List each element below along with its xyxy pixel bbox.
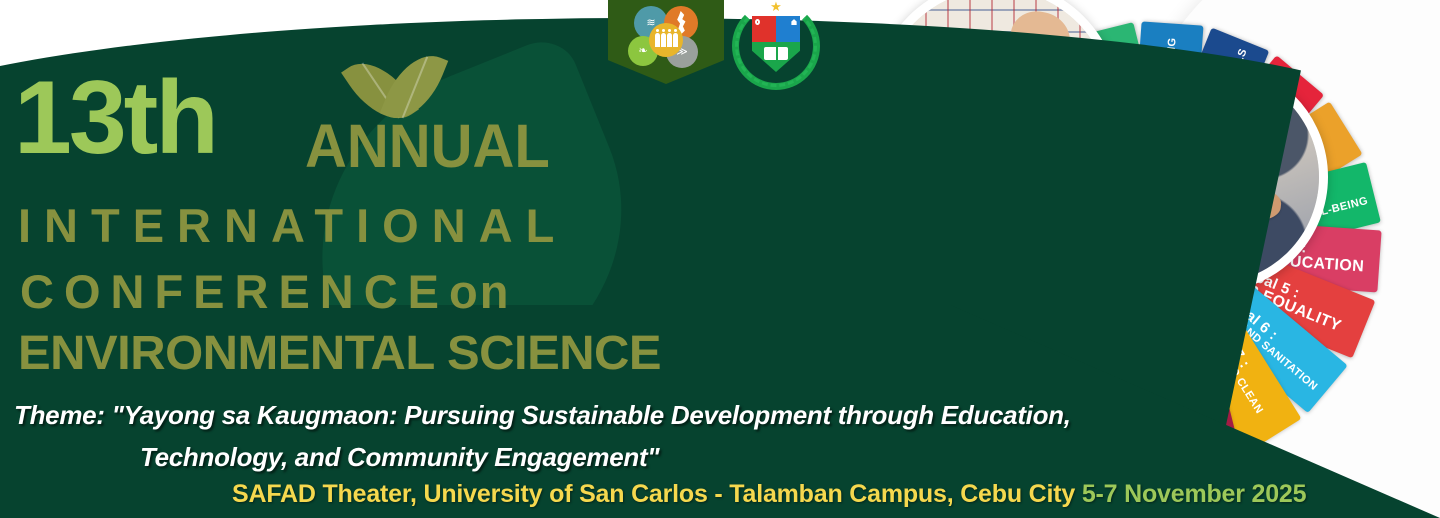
date-text: 5-7 November 2025: [1082, 480, 1307, 508]
theme-text-line-1: Theme: "Yayong sa Kaugmaon: Pursuing Sus…: [14, 402, 1071, 428]
seal-red-quadrant: [752, 16, 776, 42]
people-group-icon: [649, 23, 683, 57]
edition-number: 13th: [14, 72, 216, 166]
annual-label: ANNUAL: [305, 116, 550, 177]
star-icon: ★: [770, 0, 782, 13]
international-label: INTERNATIONAL: [18, 202, 567, 249]
conference-word: CONFERENCE: [20, 265, 449, 318]
seal-blue-quadrant: [776, 16, 800, 42]
subject-label: ENVIRONMENTAL SCIENCE: [18, 330, 661, 378]
venue-text: SAFAD Theater, University of San Carlos …: [232, 480, 1075, 508]
conference-label: CONFERENCEon: [20, 268, 510, 315]
department-logo-circles: ≋ ❧ ≫: [624, 2, 708, 74]
university-of-san-carlos-seal: ★: [732, 2, 820, 90]
venue-and-date-line: SAFAD Theater, University of San Carlos …: [232, 482, 1306, 507]
building-icon: [791, 19, 796, 25]
open-book-icon: [764, 47, 787, 59]
theme-text-line-2: Technology, and Community Engagement": [140, 444, 659, 470]
lamp-icon: [755, 19, 760, 25]
conference-on-word: on: [449, 265, 510, 318]
conference-banner: Goal 15 :LIFE ON LANDGoal 16 :PEACE, JUS…: [0, 0, 1440, 518]
